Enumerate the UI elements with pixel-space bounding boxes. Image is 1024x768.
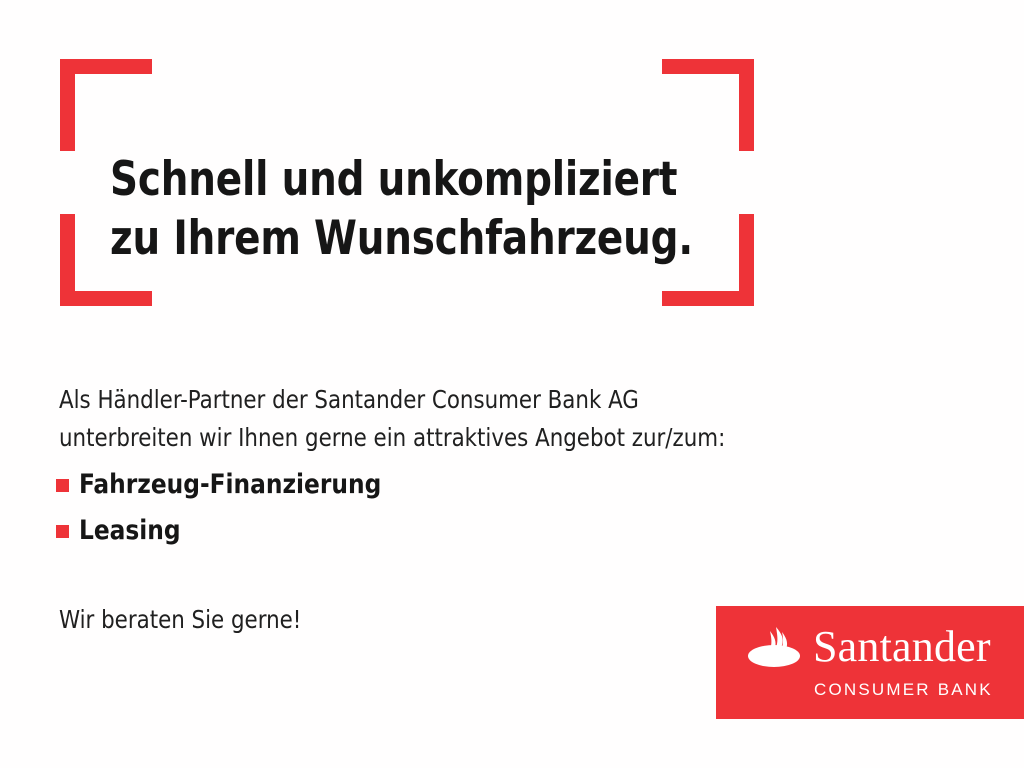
- headline-line-1: Schnell und unkompliziert: [110, 150, 680, 209]
- body-line-2: unterbreiten wir Ihnen gerne ein attrakt…: [59, 419, 914, 457]
- offer-bullet-list: Fahrzeug-Finanzierung Leasing: [56, 461, 394, 553]
- bracket-arm-horizontal: [60, 291, 152, 306]
- logo-primary-row: Santander: [745, 625, 991, 669]
- bracket-arm-vertical: [60, 214, 75, 306]
- bracket-top-left-icon: [60, 59, 152, 151]
- bracket-arm-vertical: [739, 214, 754, 306]
- list-item: Fahrzeug-Finanzierung: [56, 461, 394, 507]
- logo-subline: CONSUMER BANK: [814, 680, 993, 700]
- body-paragraph: Als Händler-Partner der Santander Consum…: [59, 381, 914, 457]
- headline-line-2: zu Ihrem Wunschfahrzeug.: [110, 209, 680, 268]
- santander-logo-block: Santander CONSUMER BANK: [716, 606, 1024, 719]
- bracket-arm-horizontal: [662, 291, 754, 306]
- bracket-arm-horizontal: [662, 59, 754, 74]
- bracket-arm-vertical: [739, 59, 754, 151]
- bracket-arm-horizontal: [60, 59, 152, 74]
- advertisement-canvas: Schnell und unkompliziert zu Ihrem Wunsc…: [0, 0, 1024, 768]
- closing-line: Wir beraten Sie gerne!: [59, 603, 301, 637]
- bracket-top-right-icon: [662, 59, 754, 151]
- logo-wordmark: Santander: [813, 625, 991, 669]
- headline: Schnell und unkompliziert zu Ihrem Wunsc…: [110, 150, 680, 268]
- body-line-1: Als Händler-Partner der Santander Consum…: [59, 381, 914, 419]
- bracket-arm-vertical: [60, 59, 75, 151]
- list-item: Leasing: [56, 507, 394, 553]
- bullet-square-icon: [56, 479, 69, 492]
- santander-flame-icon: [745, 625, 803, 669]
- bullet-label: Leasing: [79, 517, 181, 544]
- bullet-square-icon: [56, 525, 69, 538]
- bullet-label: Fahrzeug-Finanzierung: [79, 471, 381, 498]
